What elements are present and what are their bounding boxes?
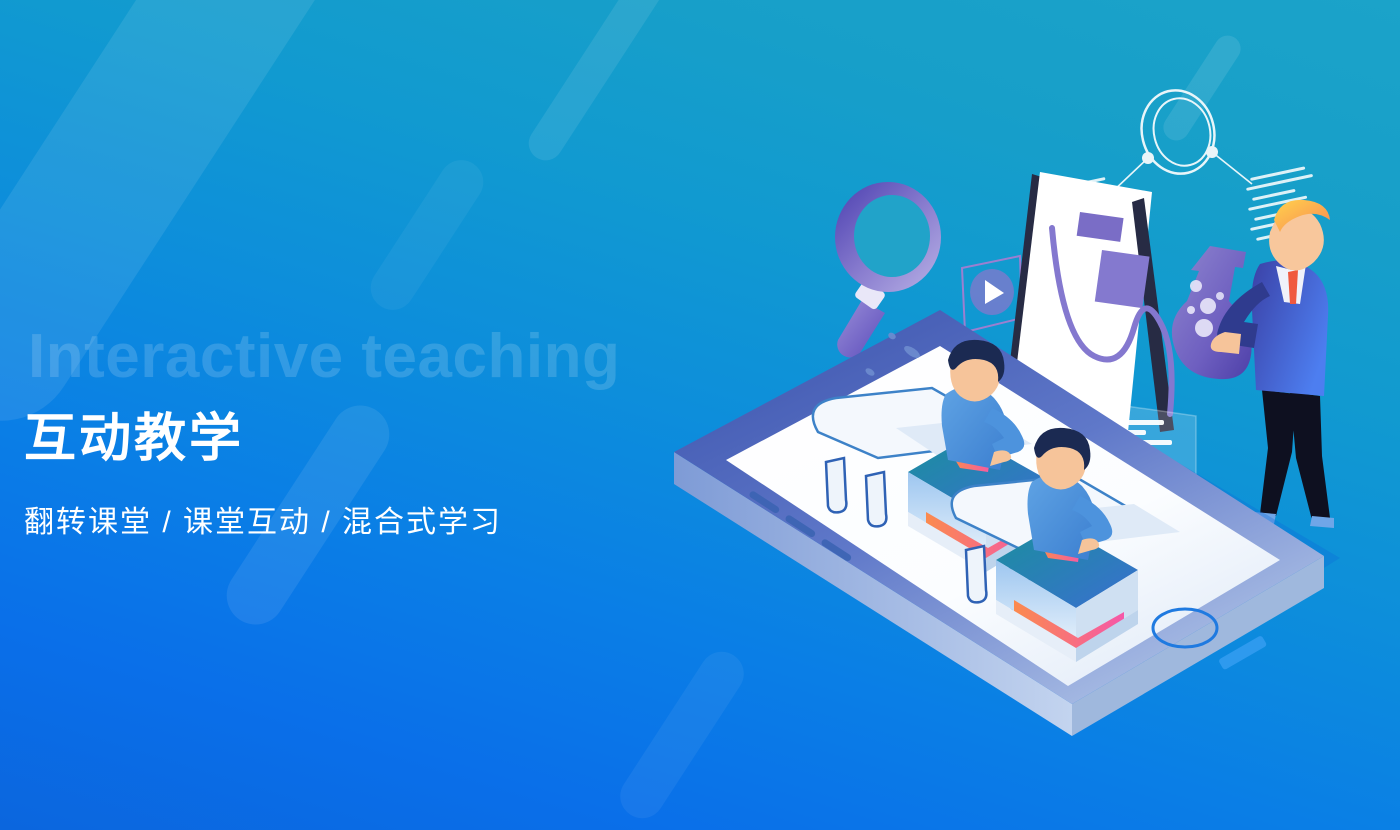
video-play-icon <box>962 256 1022 332</box>
hero-illustration <box>640 60 1400 800</box>
ghost-title: Interactive teaching <box>28 326 620 388</box>
hero-banner: Interactive teaching 互动教学 翻转课堂 / 课堂互动 / … <box>0 0 1400 830</box>
page-subtitle: 翻转课堂 / 课堂互动 / 混合式学习 <box>24 497 502 541</box>
page-title: 互动教学 <box>24 411 244 468</box>
